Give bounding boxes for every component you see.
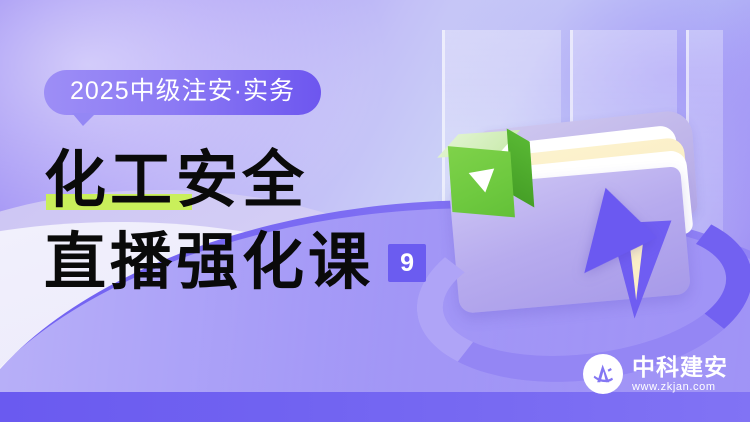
episode-number-badge: 9 xyxy=(388,244,426,282)
course-category-label: 2025中级注安·实务 xyxy=(44,70,321,115)
badge-tail xyxy=(72,113,96,126)
banner-copy: 2025中级注安·实务 化工安全 直播强化课 9 xyxy=(44,70,464,294)
brand-logo-text: 中科建安 www.zkjan.com xyxy=(632,356,728,393)
play-triangle-icon xyxy=(469,169,498,195)
background-bottom-strip xyxy=(0,392,750,422)
course-category-badge: 2025中级注安·实务 xyxy=(44,70,321,115)
brand-logo[interactable]: 中科建安 www.zkjan.com xyxy=(583,354,728,394)
brand-website: www.zkjan.com xyxy=(632,382,728,393)
brand-name: 中科建安 xyxy=(632,356,728,379)
page-title-line-2: 直播强化课 9 xyxy=(44,232,464,294)
zkjan-circular-logo-icon xyxy=(583,354,623,394)
page-title-line-1-text: 化工安全 xyxy=(44,147,308,215)
course-promo-banner: 2025中级注安·实务 化工安全 直播强化课 9 中科建安 www.zkjan.… xyxy=(0,0,750,422)
page-title-line-2-text: 直播强化课 xyxy=(44,232,374,294)
page-title-line-1: 化工安全 xyxy=(44,150,464,212)
